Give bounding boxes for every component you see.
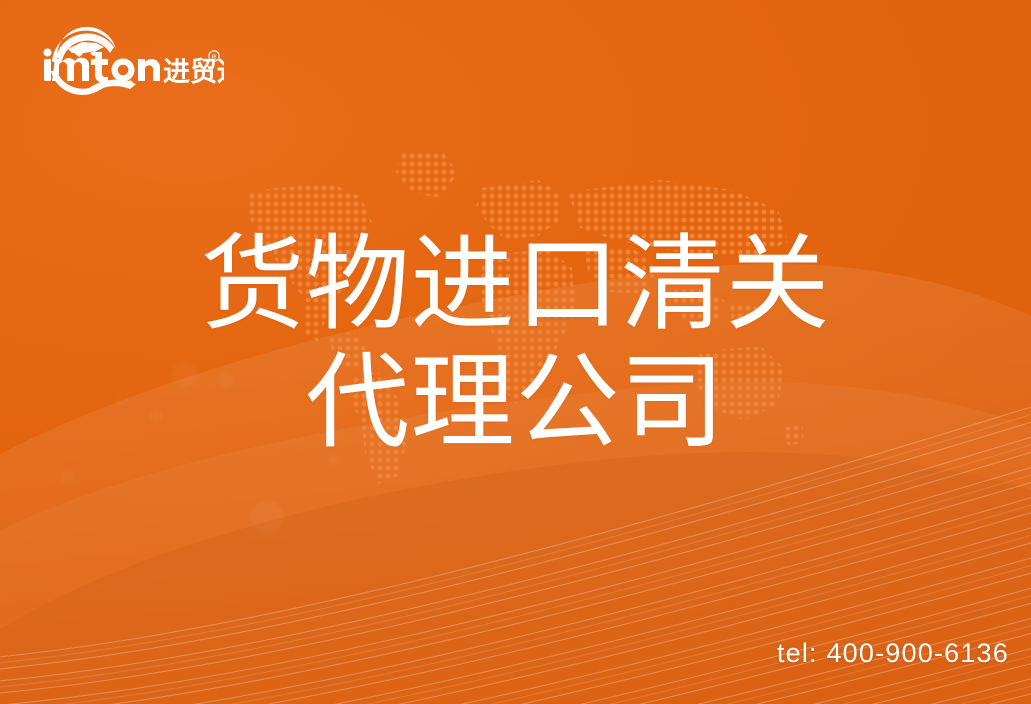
brand-logo[interactable]: 进贸通 R [38,27,224,101]
svg-text:R: R [212,53,217,61]
swoosh-icon [88,80,136,90]
contact-telephone[interactable]: tel: 400-900-6136 [777,638,1009,669]
headline-line-1: 货物进口清关 [0,226,1031,344]
headline-line-2: 代理公司 [0,344,1031,462]
headline: 货物进口清关 代理公司 [0,226,1031,462]
promo-banner: 进贸通 R 货物进口清关 代理公司 tel: 400-900-6136 [0,0,1031,704]
